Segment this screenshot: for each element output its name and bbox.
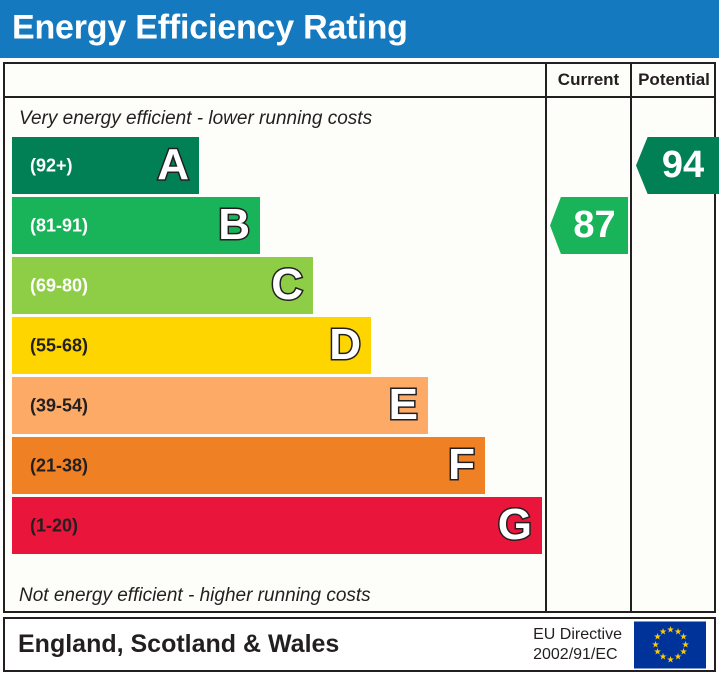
band-letter-b: B [218, 203, 250, 247]
rating-value-current: 87 [550, 205, 628, 243]
band-bar-a: (92+)A [12, 137, 199, 194]
band-row-g: (1-20)G [12, 497, 542, 554]
column-header-potential: Potential [632, 64, 716, 96]
footer-directive-line2: 2002/91/EC [533, 645, 622, 665]
band-row-f: (21-38)F [12, 437, 485, 494]
band-row-d: (55-68)D [12, 317, 371, 374]
energy-efficiency-rating-chart: Energy Efficiency Rating Current Potenti… [0, 0, 719, 675]
band-bars: (92+)A(81-91)B(69-80)C(55-68)D(39-54)E(2… [5, 64, 543, 611]
eu-star-icon: ★ [652, 641, 659, 648]
chart-footer: England, Scotland & Wales EU Directive 2… [3, 617, 716, 672]
band-letter-a: A [157, 143, 189, 187]
band-row-e: (39-54)E [12, 377, 428, 434]
band-range-f: (21-38) [30, 455, 88, 476]
band-range-b: (81-91) [30, 215, 88, 236]
band-bar-e: (39-54)E [12, 377, 428, 434]
band-bar-d: (55-68)D [12, 317, 371, 374]
eu-star-icon: ★ [674, 654, 681, 661]
rating-badge-potential: 94 [636, 137, 719, 194]
rating-value-potential: 94 [636, 145, 719, 183]
column-header-current: Current [547, 64, 630, 96]
column-divider-current [545, 64, 547, 611]
column-divider-potential [630, 64, 632, 611]
eu-star-icon: ★ [654, 649, 661, 656]
band-bar-g: (1-20)G [12, 497, 542, 554]
band-row-c: (69-80)C [12, 257, 313, 314]
footer-directive-line1: EU Directive [533, 625, 622, 645]
eu-flag-icon: ★★★★★★★★★★★★ [634, 621, 706, 668]
rating-table: Current Potential Very energy efficient … [3, 62, 716, 613]
eu-star-icon: ★ [667, 656, 674, 663]
eu-star-icon: ★ [667, 626, 674, 633]
band-row-a: (92+)A [12, 137, 199, 194]
band-bar-b: (81-91)B [12, 197, 260, 254]
band-bar-f: (21-38)F [12, 437, 485, 494]
band-letter-e: E [389, 383, 418, 427]
band-row-b: (81-91)B [12, 197, 260, 254]
band-range-c: (69-80) [30, 275, 88, 296]
band-bar-c: (69-80)C [12, 257, 313, 314]
band-range-e: (39-54) [30, 395, 88, 416]
footer-directive: EU Directive 2002/91/EC [533, 625, 622, 665]
band-range-g: (1-20) [30, 515, 78, 536]
band-letter-d: D [329, 323, 361, 367]
chart-title-bar: Energy Efficiency Rating [0, 0, 719, 58]
footer-region-label: England, Scotland & Wales [18, 629, 339, 658]
eu-star-icon: ★ [659, 628, 666, 635]
band-letter-f: F [448, 443, 475, 487]
page-title: Energy Efficiency Rating [12, 9, 408, 48]
band-range-d: (55-68) [30, 335, 88, 356]
band-letter-g: G [498, 503, 532, 547]
band-letter-c: C [271, 263, 303, 307]
band-range-a: (92+) [30, 155, 73, 176]
rating-badge-current: 87 [550, 197, 628, 254]
